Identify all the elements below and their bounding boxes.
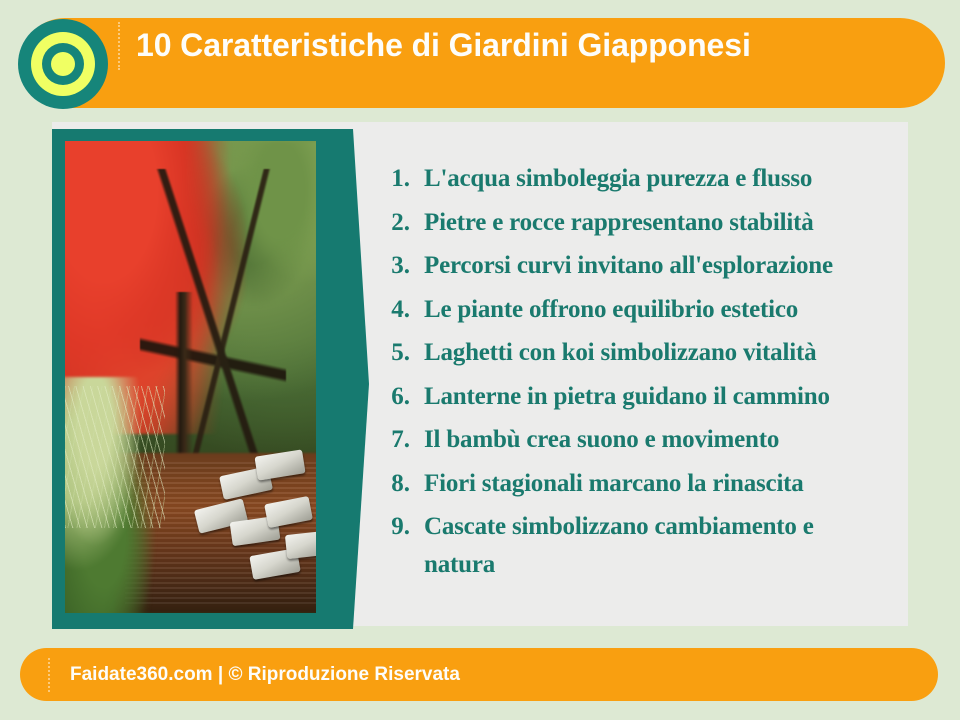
page-title: 10 Caratteristiche di Giardini Giappones…	[136, 0, 936, 90]
list-item: 1. L'acqua simboleggia purezza e flusso	[378, 160, 898, 198]
list-item-label: Cascate simbolizzano cambiamento e natur…	[424, 508, 879, 584]
photo-frame	[52, 129, 329, 629]
list-item-number: 4.	[378, 291, 424, 329]
list-item-number: 5.	[378, 334, 424, 372]
list-item: 4. Le piante offrono equilibrio estetico	[378, 291, 898, 329]
faidate360-logo-icon	[18, 19, 108, 109]
list-item: 2. Pietre e rocce rappresentano stabilit…	[378, 204, 898, 242]
list-item: 8. Fiori stagionali marcano la rinascita	[378, 465, 898, 503]
list-item-label: Fiori stagionali marcano la rinascita	[424, 465, 804, 503]
list-item: 9. Cascate simbolizzano cambiamento e na…	[378, 508, 898, 584]
stepping-stone	[285, 531, 316, 559]
list-item-label: L'acqua simboleggia purezza e flusso	[424, 160, 812, 198]
list-item-number: 8.	[378, 465, 424, 503]
list-item-number: 6.	[378, 378, 424, 416]
list-item-number: 7.	[378, 421, 424, 459]
photo-grass-blades-layer	[65, 386, 165, 528]
list-item-label: Percorsi curvi invitano all'esplorazione	[424, 247, 833, 285]
list-item-label: Pietre e rocce rappresentano stabilità	[424, 204, 814, 242]
logo-ring-outer	[31, 32, 95, 96]
logo-core	[51, 52, 75, 76]
list-item: 5. Laghetti con koi simbolizzano vitalit…	[378, 334, 898, 372]
list-item-label: Laghetti con koi simbolizzano vitalità	[424, 334, 816, 372]
logo-ring-inner	[42, 43, 84, 85]
list-item: 6. Lanterne in pietra guidano il cammino	[378, 378, 898, 416]
footer-divider	[48, 658, 50, 692]
list-item-label: Le piante offrono equilibrio estetico	[424, 291, 798, 329]
list-item-number: 1.	[378, 160, 424, 198]
list-item-number: 3.	[378, 247, 424, 285]
list-item-label: Il bambù crea suono e movimento	[424, 421, 779, 459]
japanese-garden-photo	[65, 141, 316, 613]
header-divider	[118, 22, 120, 70]
footer-credit: Faidate360.com | © Riproduzione Riservat…	[70, 648, 460, 701]
features-list: 1. L'acqua simboleggia purezza e flusso …	[378, 160, 898, 590]
list-item-number: 2.	[378, 204, 424, 242]
list-item: 7. Il bambù crea suono e movimento	[378, 421, 898, 459]
list-item: 3. Percorsi curvi invitano all'esplorazi…	[378, 247, 898, 285]
list-item-label: Lanterne in pietra guidano il cammino	[424, 378, 830, 416]
list-item-number: 9.	[378, 508, 424, 546]
